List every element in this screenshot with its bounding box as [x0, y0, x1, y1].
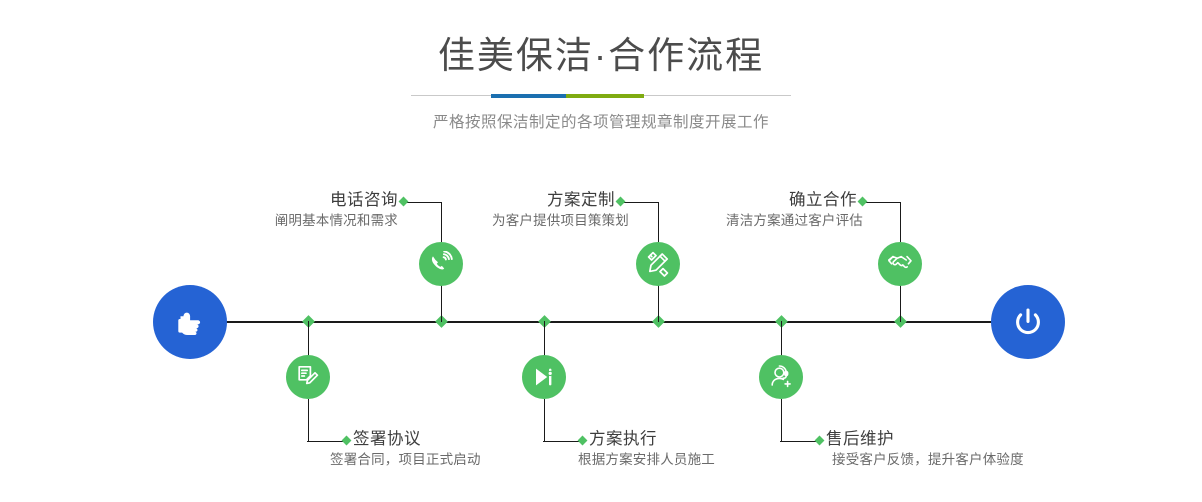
step-title-plan-execute: 方案执行 — [589, 429, 849, 450]
step-node-phone-consult[interactable] — [419, 242, 463, 286]
timeline: 电话咨询 阐明基本情况和需求 签署协议 签署 — [0, 0, 1202, 502]
label-stem-plan-execute — [544, 399, 546, 441]
label-diamond-establish-coop — [858, 197, 868, 207]
step-title-establish-coop: 确立合作 — [620, 190, 857, 211]
step-node-plan-custom[interactable] — [636, 242, 680, 286]
step-label-sign-agreement: 签署协议 签署合同，项目正式启动 — [353, 429, 613, 470]
step-desc-establish-coop: 清洁方案通过客户评估 — [620, 211, 863, 231]
label-arm-sign-agreement — [307, 441, 345, 443]
step-node-sign-agreement[interactable] — [286, 355, 330, 399]
step-desc-after-sales: 接受客户反馈，提升客户体验度 — [832, 450, 1106, 470]
connector-stem-5 — [781, 321, 783, 357]
step-title-after-sales: 售后维护 — [826, 429, 1106, 450]
phone-ring-icon — [428, 251, 454, 277]
connector-stem-3 — [544, 321, 546, 357]
power-icon — [1008, 302, 1048, 342]
step-title-plan-custom: 方案定制 — [380, 190, 615, 211]
step-node-after-sales[interactable] — [759, 355, 803, 399]
step-label-plan-custom: 方案定制 为客户提供项目策策划 — [380, 190, 615, 231]
step-desc-sign-agreement: 签署合同，项目正式启动 — [330, 450, 613, 470]
document-pencil-icon — [295, 364, 321, 390]
step-label-plan-execute: 方案执行 根据方案安排人员施工 — [589, 429, 849, 470]
pointing-hand-icon — [170, 302, 210, 342]
step-desc-plan-custom: 为客户提供项目策策划 — [380, 211, 629, 231]
timeline-start-marker[interactable] — [153, 285, 227, 359]
handshake-icon — [887, 251, 913, 277]
step-node-establish-coop[interactable] — [878, 242, 922, 286]
pencil-ruler-icon — [645, 251, 671, 277]
step-desc-phone-consult: 阐明基本情况和需求 — [150, 211, 398, 231]
headset-plus-icon — [768, 364, 794, 390]
label-arm-establish-coop — [863, 202, 900, 204]
cooperation-process-infographic: 佳美保洁·合作流程 严格按照保洁制定的各项管理规章制度开展工作 — [0, 0, 1202, 502]
label-stem-sign-agreement — [308, 399, 310, 441]
label-stem-establish-coop — [900, 202, 902, 242]
label-arm-after-sales — [780, 441, 818, 443]
step-label-phone-consult: 电话咨询 阐明基本情况和需求 — [150, 190, 398, 231]
step-desc-plan-execute: 根据方案安排人员施工 — [578, 450, 849, 470]
play-execute-icon — [531, 364, 557, 390]
step-node-plan-execute[interactable] — [522, 355, 566, 399]
label-diamond-sign-agreement — [342, 436, 352, 446]
label-stem-after-sales — [781, 399, 783, 441]
step-label-after-sales: 售后维护 接受客户反馈，提升客户体验度 — [826, 429, 1106, 470]
timeline-end-marker[interactable] — [991, 285, 1065, 359]
label-arm-plan-execute — [543, 441, 581, 443]
step-label-establish-coop: 确立合作 清洁方案通过客户评估 — [620, 190, 857, 231]
step-title-phone-consult: 电话咨询 — [150, 190, 398, 211]
step-title-sign-agreement: 签署协议 — [353, 429, 613, 450]
